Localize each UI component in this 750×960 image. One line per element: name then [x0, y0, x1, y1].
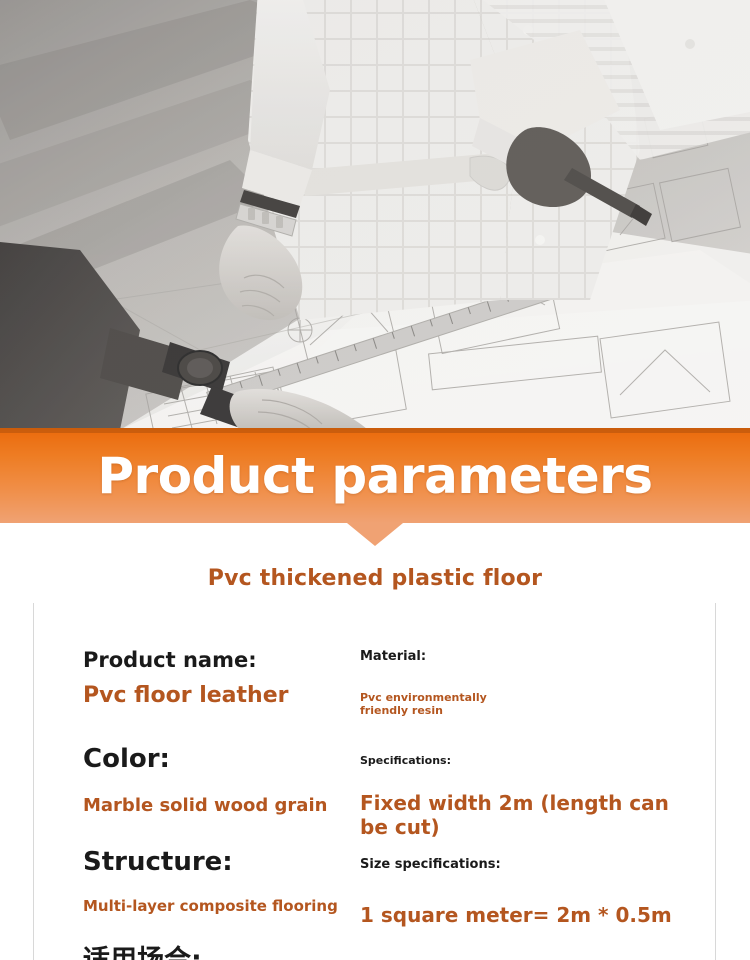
- spec-value-size-specifications: 1 square meter= 2m * 0.5m: [360, 903, 700, 927]
- spec-value-material: Pvc environmentally friendly resin: [360, 691, 525, 717]
- banner-title: Product parameters: [0, 428, 750, 523]
- spec-label-material: Material:: [360, 650, 700, 665]
- spec-label-structure: Structure:: [83, 848, 383, 878]
- product-parameters-page: Product parameters Pvc thickened plastic…: [0, 0, 750, 960]
- spec-label-color: Color:: [83, 745, 383, 775]
- hero-illustration-blueprint-scene: [0, 0, 750, 430]
- product-subtitle: Pvc thickened plastic floor: [0, 566, 750, 591]
- spec-value-product-name: Pvc floor leather: [83, 683, 383, 709]
- spec-label-applicable-occasions: 适用场合:: [83, 938, 202, 960]
- hero-image: [0, 0, 750, 430]
- product-parameters-banner: Product parameters: [0, 428, 750, 523]
- banner-notch-triangle-icon: [347, 523, 403, 546]
- spec-table: Product name: Pvc floor leather Material…: [33, 603, 716, 960]
- spec-value-structure: Multi-layer composite flooring: [83, 897, 383, 915]
- spec-label-product-name: Product name:: [83, 648, 383, 672]
- spec-label-specifications: Specifications:: [360, 755, 700, 768]
- spec-label-size-specifications: Size specifications:: [360, 858, 700, 873]
- spec-value-color: Marble solid wood grain: [83, 795, 383, 817]
- spec-value-specifications: Fixed width 2m (length can be cut): [360, 791, 700, 839]
